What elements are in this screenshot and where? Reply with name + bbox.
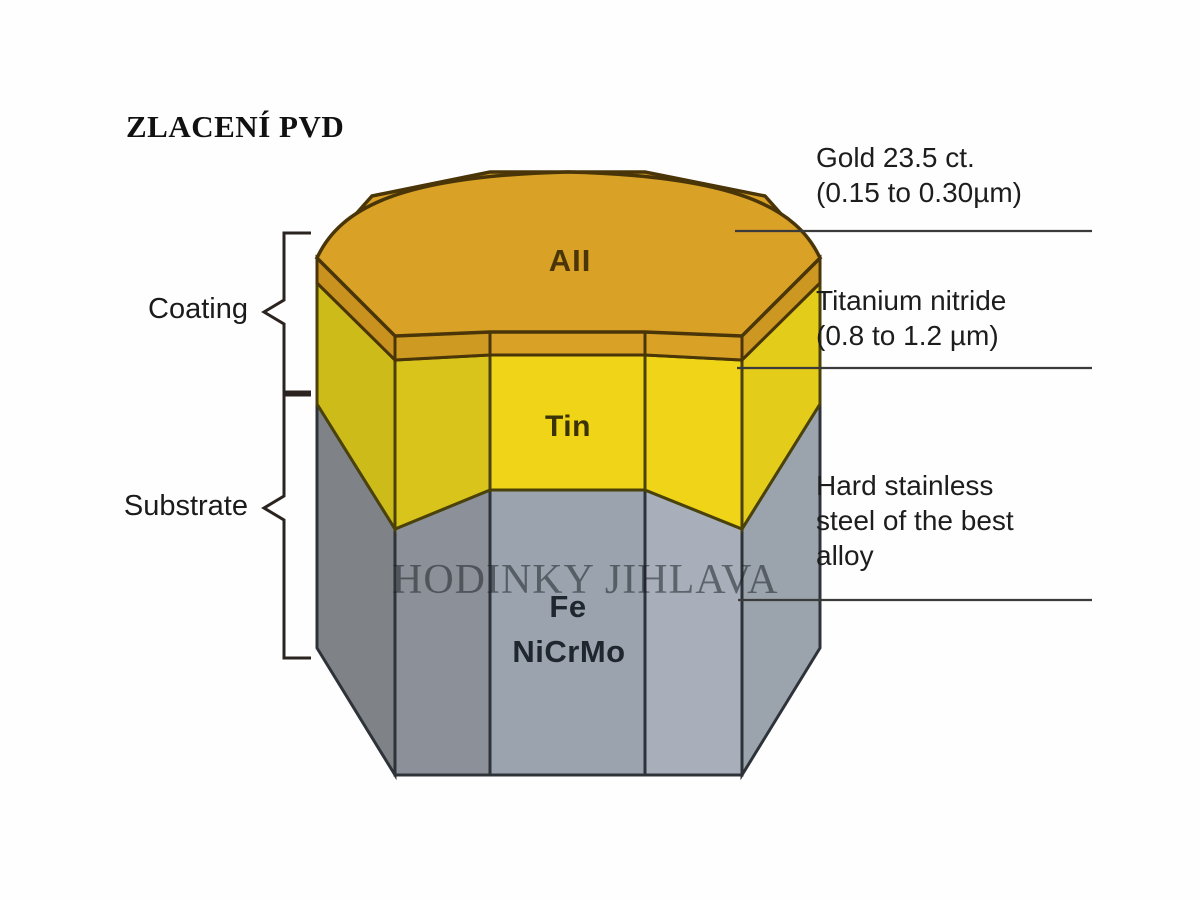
diagram-canvas: ZLACENÍ PVD — [0, 0, 1200, 900]
pvd-coating-cross-section-illustration — [0, 0, 1200, 900]
bracket-substrate — [264, 395, 311, 658]
layer-label-gold: AII — [470, 243, 670, 279]
bracket-label-coating: Coating — [0, 293, 248, 326]
bracket-coating — [264, 233, 311, 392]
annotation-gold: Gold 23.5 ct. (0.15 to 0.30µm) — [816, 140, 1022, 210]
layer-label-fe: Fe — [468, 589, 668, 625]
gold-band-front — [490, 332, 645, 355]
steel-face-right — [645, 490, 742, 775]
steel-face-front — [490, 490, 645, 775]
annotation-gold-line1: Gold 23.5 ct. — [816, 140, 1022, 175]
annotation-titanium-nitride-line1: Titanium nitride — [816, 283, 1006, 318]
steel-face-left — [395, 490, 490, 775]
layer-label-titanium-nitride: Tin — [468, 410, 668, 444]
annotation-gold-line2: (0.15 to 0.30µm) — [816, 175, 1022, 210]
annotation-steel: Hard stainless steel of the best alloy — [816, 468, 1014, 573]
bracket-coating-path — [264, 233, 311, 392]
bracket-substrate-path — [264, 395, 311, 658]
layer-label-nicrmo: NiCrMo — [438, 634, 700, 670]
annotation-steel-line3: alloy — [816, 538, 1014, 573]
annotation-steel-line2: steel of the best — [816, 503, 1014, 538]
annotation-titanium-nitride-line2: (0.8 to 1.2 µm) — [816, 318, 1006, 353]
annotation-titanium-nitride: Titanium nitride (0.8 to 1.2 µm) — [816, 283, 1006, 353]
bracket-label-substrate: Substrate — [0, 490, 248, 523]
annotation-steel-line1: Hard stainless — [816, 468, 1014, 503]
